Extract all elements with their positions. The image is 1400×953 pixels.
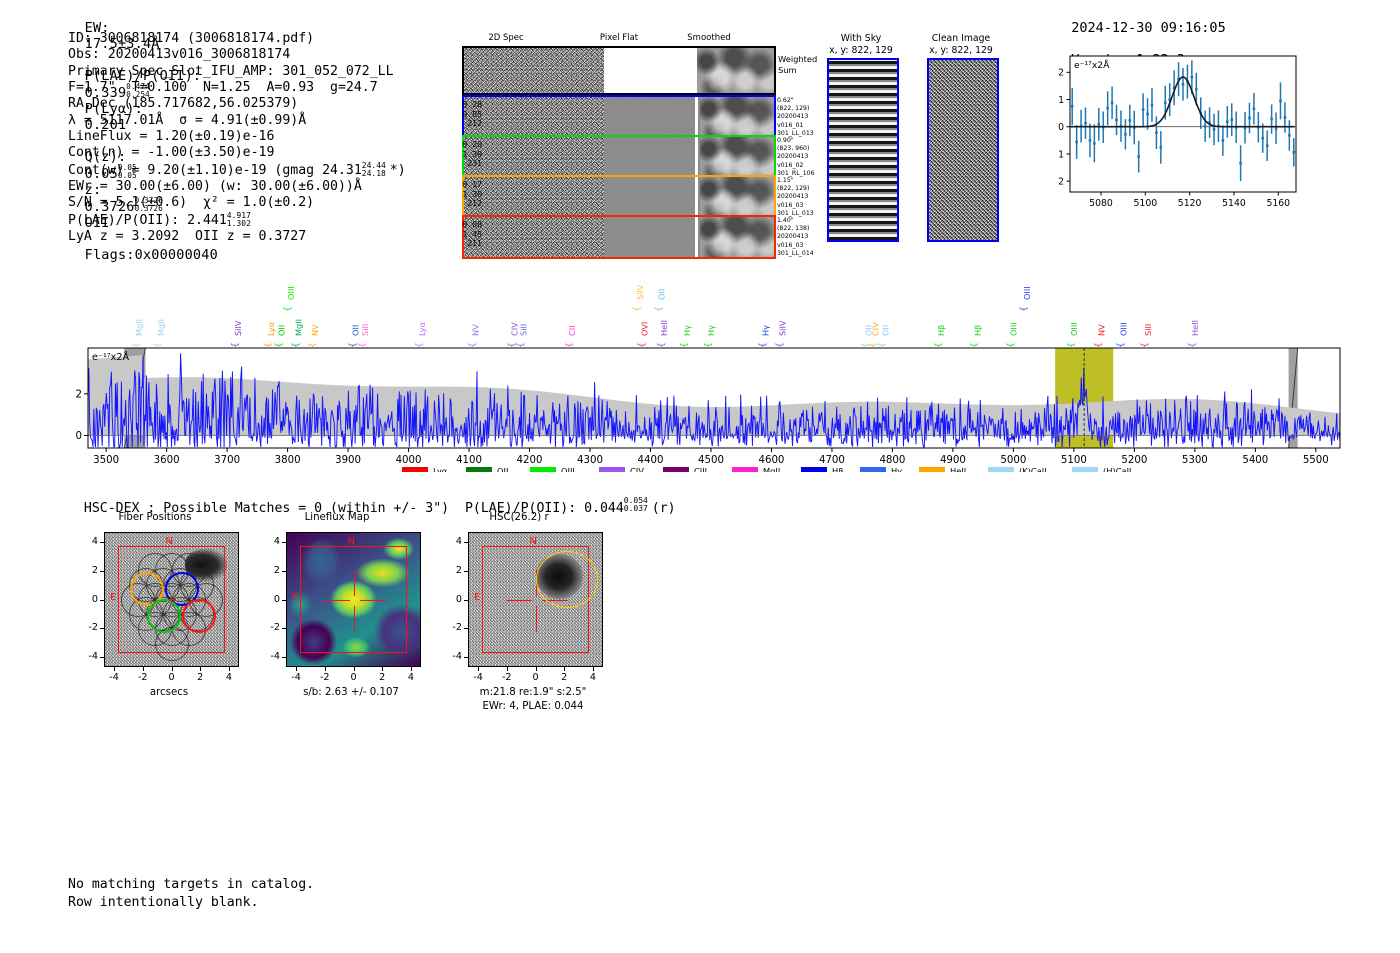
column-header-1: 2D Spec bbox=[466, 33, 546, 43]
fiber-row-4-stats: 0.08 1.45 211 bbox=[426, 220, 482, 249]
compass-east-1: E bbox=[110, 592, 116, 603]
y-tick bbox=[464, 600, 468, 601]
y-tick-label: -2 bbox=[82, 622, 98, 633]
info-id: ID: 3006818174 (3006818174.pdf) bbox=[68, 31, 406, 47]
footer-line-2: Row intentionally blank. bbox=[68, 894, 314, 912]
fiber-row-1-stats: 0.28 0.85 212 bbox=[426, 100, 482, 129]
legend-label: CIV bbox=[630, 466, 644, 472]
info-cont-n: Cont(n) = -1.00(±3.50)e-19 bbox=[68, 145, 406, 161]
emission-line-label: OII bbox=[657, 289, 667, 300]
svg-text:4400: 4400 bbox=[638, 455, 664, 466]
x-tick-label: 0 bbox=[163, 672, 181, 683]
crosshair-right-2 bbox=[360, 600, 386, 601]
legend-label: Hβ bbox=[832, 466, 844, 472]
x-tick-label: -2 bbox=[316, 672, 334, 683]
fiber-row-1-pixelflat bbox=[604, 97, 697, 137]
svg-text:3600: 3600 bbox=[154, 455, 180, 466]
compass-north-1: N bbox=[166, 536, 173, 547]
svg-text:5100: 5100 bbox=[1133, 198, 1157, 209]
emission-line-label: SiIV bbox=[778, 320, 788, 336]
y-tick-label: 4 bbox=[446, 536, 462, 547]
emission-line-brace: { bbox=[275, 342, 285, 348]
y-tick-label: 0 bbox=[446, 594, 462, 605]
compass-east-3: E bbox=[474, 592, 480, 603]
panel-title-3: HSC(26.2) r bbox=[434, 512, 604, 523]
legend-label: Hγ bbox=[891, 466, 902, 472]
emission-line-brace: { bbox=[704, 342, 714, 348]
x-tick-label: 0 bbox=[345, 672, 363, 683]
emission-line-label: CII bbox=[567, 325, 577, 336]
panel-title-1: Fiber Positions bbox=[70, 512, 240, 523]
y-tick bbox=[100, 600, 104, 601]
with-sky-cutout bbox=[827, 58, 899, 242]
emission-line-brace: { bbox=[415, 342, 425, 348]
emission-line-brace: { bbox=[154, 342, 164, 348]
legend-label: CIII bbox=[694, 466, 707, 472]
fiber-row-1 bbox=[462, 95, 776, 139]
crosshair-bottom-3 bbox=[536, 606, 537, 632]
emission-line-brace: { bbox=[348, 342, 358, 348]
highlighted-fiber-3 bbox=[147, 599, 181, 633]
x-tick bbox=[172, 667, 173, 671]
svg-text:5120: 5120 bbox=[1178, 198, 1202, 209]
crosshair-top-2 bbox=[354, 570, 355, 596]
full-spectrum-panel: 3500360037003800390040004100420043004400… bbox=[60, 272, 1350, 476]
emission-line-brace: { bbox=[1188, 342, 1198, 348]
svg-text:4000: 4000 bbox=[396, 455, 422, 466]
x-tick-label: 2 bbox=[373, 672, 391, 683]
svg-text:5400: 5400 bbox=[1242, 455, 1268, 466]
svg-text:4700: 4700 bbox=[819, 455, 845, 466]
y-tick bbox=[282, 542, 286, 543]
hsc-filter: (r) bbox=[652, 501, 676, 516]
footer-line-1: No matching targets in catalog. bbox=[68, 876, 314, 894]
y-tick-label: -4 bbox=[82, 651, 98, 662]
svg-text:5300: 5300 bbox=[1182, 455, 1208, 466]
y-tick bbox=[464, 571, 468, 572]
crosshair-left-2 bbox=[324, 600, 350, 601]
x-tick-label: 0 bbox=[527, 672, 545, 683]
svg-text:0: 0 bbox=[1058, 122, 1064, 133]
x-tick bbox=[325, 667, 326, 671]
svg-text:2: 2 bbox=[76, 389, 82, 400]
legend-label: OII bbox=[497, 466, 508, 472]
legend-label: (K)CaII bbox=[1019, 466, 1047, 472]
emission-line-label: OVI bbox=[640, 322, 650, 336]
emission-line-label: OII bbox=[277, 325, 287, 336]
weighted-sum-2dspec bbox=[464, 48, 604, 93]
plae-bayes-errors: 4.9171.302 bbox=[227, 212, 255, 224]
fiber-row-3-smoothed bbox=[700, 177, 774, 217]
spectrum-legend: LyαOIIOIIICIVCIIIMgIIHβHγHeII(K)CaII(H)C… bbox=[402, 466, 1131, 472]
emission-line-brace: { bbox=[264, 342, 274, 348]
svg-text:5140: 5140 bbox=[1222, 198, 1246, 209]
x-tick-label: -2 bbox=[498, 672, 516, 683]
y-tick bbox=[100, 571, 104, 572]
x-tick-label: -4 bbox=[287, 672, 305, 683]
emission-line-label: HeII bbox=[659, 320, 669, 336]
compass-north-3: N bbox=[530, 536, 537, 547]
info-primary-slot: Primary Spec_Slot_IFU_AMP: 301_052_072_L… bbox=[68, 64, 406, 80]
emission-line-brace: { bbox=[291, 342, 301, 348]
legend-label: OIII bbox=[561, 466, 575, 472]
emission-line-brace: { bbox=[358, 342, 368, 348]
emission-line-brace: { bbox=[775, 342, 785, 348]
panel-caption-3: m:21.8 re:1.9" s:2.5" bbox=[428, 687, 638, 698]
y-tick bbox=[464, 542, 468, 543]
weighted-sum-smoothed bbox=[697, 48, 775, 93]
svg-text:5000: 5000 bbox=[1000, 455, 1026, 466]
emission-line-brace: { bbox=[1116, 342, 1126, 348]
y-tick-label: 0 bbox=[82, 594, 98, 605]
emission-line-label: SiII bbox=[1143, 324, 1153, 336]
y-tick-label: 2 bbox=[264, 565, 280, 576]
x-tick bbox=[200, 667, 201, 671]
svg-text:5080: 5080 bbox=[1089, 198, 1113, 209]
x-tick bbox=[296, 667, 297, 671]
y-tick bbox=[282, 657, 286, 658]
x-tick bbox=[478, 667, 479, 671]
emission-line-label: Hβ bbox=[972, 325, 982, 336]
compass-north-2: N bbox=[348, 536, 355, 547]
fiber-row-4-gap bbox=[695, 217, 698, 257]
emission-line-label: Lyα bbox=[417, 322, 427, 336]
emission-line-label: OIII bbox=[1119, 322, 1129, 336]
emission-line-label: Lyα bbox=[266, 322, 276, 336]
svg-text:4100: 4100 bbox=[456, 455, 482, 466]
emission-line-label: MgII bbox=[134, 319, 144, 336]
fiber-row-3-pixelflat bbox=[604, 177, 697, 217]
y-tick bbox=[100, 657, 104, 658]
svg-text:1: 1 bbox=[1058, 149, 1064, 160]
svg-text:4200: 4200 bbox=[517, 455, 543, 466]
clean-image-cutout bbox=[927, 58, 999, 242]
emission-line-label: OIII bbox=[286, 286, 296, 300]
panel-caption2-3: EWr: 4, PLAE: 0.044 bbox=[428, 701, 638, 712]
x-tick bbox=[411, 667, 412, 671]
y-tick bbox=[464, 657, 468, 658]
x-tick bbox=[564, 667, 565, 671]
legend-label: Lyα bbox=[433, 466, 448, 472]
emission-line-brace: { bbox=[516, 342, 526, 348]
x-tick bbox=[114, 667, 115, 671]
column-header-3: Smoothed bbox=[669, 33, 749, 43]
spectrum-svg: 3500360037003800390040004100420043004400… bbox=[60, 272, 1350, 472]
emission-line-brace: { bbox=[654, 306, 664, 312]
info-obs: Obs: 20200413v016_3006818174 bbox=[68, 47, 406, 63]
emission-line-brace: { bbox=[284, 306, 294, 312]
y-tick-label: 4 bbox=[264, 536, 280, 547]
emission-line-label: NV bbox=[1096, 324, 1106, 336]
emission-line-brace: { bbox=[934, 342, 944, 348]
emission-line-label: SiIV bbox=[635, 284, 645, 300]
emission-line-brace: { bbox=[1141, 342, 1151, 348]
y-tick-label: 2 bbox=[446, 565, 462, 576]
emission-line-label: SiII bbox=[360, 324, 370, 336]
emission-line-label: CIV bbox=[871, 322, 881, 336]
x-tick bbox=[143, 667, 144, 671]
svg-text:5160: 5160 bbox=[1266, 198, 1290, 209]
x-tick bbox=[354, 667, 355, 671]
emission-line-brace: { bbox=[1094, 342, 1104, 348]
emission-line-label: OIII bbox=[1069, 322, 1079, 336]
center-marker-v bbox=[171, 597, 172, 604]
x-tick-label: -2 bbox=[134, 672, 152, 683]
crosshair-bottom-2 bbox=[354, 606, 355, 632]
emission-line-label: MgII bbox=[294, 319, 304, 336]
x-tick bbox=[593, 667, 594, 671]
y-tick-label: -4 bbox=[446, 651, 462, 662]
x-tick bbox=[229, 667, 230, 671]
x-tick-label: -4 bbox=[469, 672, 487, 683]
emission-line-brace: { bbox=[657, 342, 667, 348]
fit-plot-svg: 5080510051205140516021012e⁻¹⁷x2Å bbox=[1040, 48, 1302, 218]
svg-text:3500: 3500 bbox=[93, 455, 119, 466]
svg-text:5500: 5500 bbox=[1303, 455, 1329, 466]
svg-text:3900: 3900 bbox=[335, 455, 361, 466]
column-header-2: Pixel Flat bbox=[579, 33, 659, 43]
flags-value: Flags:0x00000040 bbox=[85, 247, 218, 263]
info-plae: P(LAE)/P(OII): 2.4414.9171.302 bbox=[68, 212, 406, 229]
emission-line-brace: { bbox=[1006, 342, 1016, 348]
info-cont-w: Cont(w) = 9.20(±1.10)e-19 (gmag 24.3124.… bbox=[68, 162, 406, 179]
panel-title-2: Lineflux Map bbox=[252, 512, 422, 523]
info-lambda: λ = 5117.01Å σ = 4.91(±0.99)Å bbox=[68, 113, 406, 129]
fiber-row-1-gap bbox=[695, 97, 698, 137]
x-tick bbox=[507, 667, 508, 671]
y-tick-label: 0 bbox=[264, 594, 280, 605]
svg-text:4900: 4900 bbox=[940, 455, 966, 466]
emission-line-label: OIII bbox=[1022, 286, 1032, 300]
y-tick bbox=[100, 542, 104, 543]
weighted-sum-flat-blank bbox=[604, 48, 697, 93]
fit-plot-units-label: e⁻¹⁷x2Å bbox=[1074, 59, 1110, 71]
y-tick bbox=[282, 600, 286, 601]
fiber-row-3-stats: 0.17 1.30 212 bbox=[426, 180, 482, 209]
fiber-row-4-2dspec bbox=[464, 217, 604, 257]
emission-line-fit-plot: 5080510051205140516021012e⁻¹⁷x2Å bbox=[1040, 48, 1302, 222]
emission-line-brace: { bbox=[231, 342, 241, 348]
fiber-row-2-pixelflat bbox=[604, 137, 697, 177]
y-tick bbox=[282, 628, 286, 629]
hsc-plae-errors: 0.0540.037 bbox=[624, 500, 652, 512]
info-seeing: F=1.7" T=0.100 N=1.25 A=0.93 g=24.7 bbox=[68, 80, 406, 96]
emission-line-brace: { bbox=[680, 342, 690, 348]
y-tick-label: -4 bbox=[264, 651, 280, 662]
emission-line-brace: { bbox=[758, 342, 768, 348]
x-tick-label: 2 bbox=[191, 672, 209, 683]
fiber-row-2 bbox=[462, 135, 776, 179]
emission-line-brace: { bbox=[868, 342, 878, 348]
info-radec: RA,Dec (185.717682,56.025379) bbox=[68, 96, 406, 112]
svg-text:2: 2 bbox=[1058, 177, 1064, 188]
emission-line-label: OII bbox=[351, 325, 361, 336]
panel-caption-1: arcsecs bbox=[64, 687, 274, 698]
emission-line-brace: { bbox=[970, 342, 980, 348]
emission-line-label: OII bbox=[880, 325, 890, 336]
svg-text:4600: 4600 bbox=[758, 455, 784, 466]
emission-line-brace: { bbox=[878, 342, 888, 348]
svg-text:3700: 3700 bbox=[214, 455, 240, 466]
emission-line-label: NV bbox=[310, 324, 320, 336]
y-tick bbox=[464, 628, 468, 629]
emission-line-brace: { bbox=[1067, 342, 1077, 348]
y-tick-label: -2 bbox=[446, 622, 462, 633]
svg-text:4800: 4800 bbox=[879, 455, 905, 466]
svg-text:4300: 4300 bbox=[577, 455, 603, 466]
fiber-row-2-gap bbox=[695, 137, 698, 177]
emission-line-label: Hβ bbox=[936, 325, 946, 336]
spectrum-units-label: e⁻¹⁷x2Å bbox=[92, 350, 129, 363]
emission-line-label: OIII bbox=[1009, 322, 1019, 336]
fiber-row-2-stats: 0.20 1.39 231 bbox=[426, 140, 482, 169]
emission-line-brace: { bbox=[308, 342, 318, 348]
emission-line-brace: { bbox=[132, 342, 142, 348]
svg-text:1: 1 bbox=[1058, 95, 1064, 106]
highlighted-fiber-4 bbox=[182, 599, 216, 633]
fiber-row-3-gap bbox=[695, 177, 698, 217]
emission-line-label: Hγ bbox=[761, 325, 771, 336]
with-sky-pixels bbox=[829, 60, 897, 240]
fiber-row-4-smoothed bbox=[700, 217, 774, 257]
legend-label: HeII bbox=[950, 466, 966, 472]
svg-text:0: 0 bbox=[76, 431, 82, 442]
y-tick bbox=[100, 628, 104, 629]
y-tick bbox=[282, 571, 286, 572]
x-tick-label: 4 bbox=[402, 672, 420, 683]
svg-text:2: 2 bbox=[1058, 68, 1064, 79]
info-ewr: EWr = 30.00(±6.00) (w: 30.00(±6.00))Å bbox=[68, 179, 406, 195]
emission-line-label: Hγ bbox=[682, 325, 692, 336]
fiber-row-2-smoothed bbox=[700, 137, 774, 177]
gmag-errors: 24.4424.18 bbox=[362, 162, 390, 174]
fiber-row-1-smoothed bbox=[700, 97, 774, 137]
clean-image-caption: Clean Image x, y: 822, 129 bbox=[906, 33, 1016, 56]
fiber-row-3 bbox=[462, 175, 776, 219]
aperture-box-2 bbox=[300, 546, 407, 653]
x-tick-label: 2 bbox=[555, 672, 573, 683]
emission-line-label: NV bbox=[470, 324, 480, 336]
y-tick-label: -2 bbox=[264, 622, 280, 633]
weighted-sum-row bbox=[462, 46, 776, 95]
svg-text:4500: 4500 bbox=[698, 455, 724, 466]
emission-line-label: SiIV bbox=[233, 320, 243, 336]
panel-caption-2: s/b: 2.63 +/- 0.107 bbox=[246, 687, 456, 698]
clean-image-pixels bbox=[929, 60, 997, 240]
emission-line-label: SiII bbox=[519, 324, 529, 336]
catalog-source-ellipse bbox=[536, 551, 598, 608]
fiber-row-4-pixelflat bbox=[604, 217, 697, 257]
y-tick-label: 4 bbox=[82, 536, 98, 547]
x-tick bbox=[536, 667, 537, 671]
y-tick-label: 2 bbox=[82, 565, 98, 576]
svg-text:5100: 5100 bbox=[1061, 455, 1087, 466]
footer-note: No matching targets in catalog. Row inte… bbox=[68, 876, 314, 912]
legend-label: MgII bbox=[763, 466, 780, 472]
with-sky-caption: With Sky x, y: 822, 129 bbox=[806, 33, 916, 56]
datestamp: 2024-12-30 09:16:05 bbox=[1071, 20, 1225, 36]
fiber-row-3-2dspec bbox=[464, 177, 604, 217]
crosshair-left-3 bbox=[506, 600, 532, 601]
x-tick-label: 4 bbox=[584, 672, 602, 683]
fiber-row-2-2dspec bbox=[464, 137, 604, 177]
legend-label: (H)CaII bbox=[1103, 466, 1131, 472]
emission-line-brace: { bbox=[1020, 306, 1030, 312]
svg-text:3800: 3800 bbox=[275, 455, 301, 466]
svg-text:5200: 5200 bbox=[1121, 455, 1147, 466]
emission-line-brace: { bbox=[637, 342, 647, 348]
emission-line-brace: { bbox=[633, 306, 643, 312]
x-tick bbox=[382, 667, 383, 671]
emission-line-label: HeII bbox=[1190, 320, 1200, 336]
emission-line-label: Hγ bbox=[706, 325, 716, 336]
x-tick-label: -4 bbox=[105, 672, 123, 683]
fiber-row-4 bbox=[462, 215, 776, 259]
info-lineflux: LineFlux = 1.20(±0.19)e-16 bbox=[68, 129, 406, 145]
emission-line-label: MgII bbox=[156, 319, 166, 336]
emission-line-brace: { bbox=[468, 342, 478, 348]
x-tick-label: 4 bbox=[220, 672, 238, 683]
emission-line-brace: { bbox=[565, 342, 575, 348]
detection-info-block: ID: 3006818174 (3006818174.pdf) Obs: 202… bbox=[68, 31, 406, 245]
compass-east-2: E bbox=[292, 592, 298, 603]
fiber-row-1-2dspec bbox=[464, 97, 604, 137]
